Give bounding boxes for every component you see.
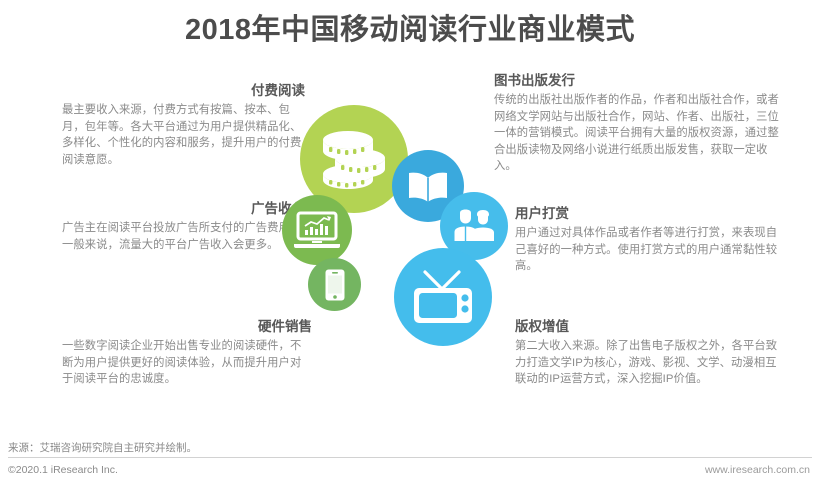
footer-copyright: ©2020.1 iResearch Inc. (8, 464, 118, 476)
block-paid-reading-body: 最主要收入来源，付费方式有按篇、按本、包月，包年等。各大平台通过为用户提供精品化… (62, 102, 305, 168)
page-title: 2018年中国移动阅读行业商业模式 (0, 10, 820, 50)
block-ad-revenue: 广告收入 广告主在阅读平台投放广告所支付的广告费用。一般来说，流量大的平台广告收… (62, 200, 305, 253)
block-user-tipping-heading: 用户打赏 (515, 205, 785, 223)
block-book-publishing: 图书出版发行 传统的出版社出版作者的作品，作者和出版社合作，或者网络文学网站与出… (494, 72, 779, 175)
block-copyright-value-body: 第二大收入来源。除了出售电子版权之外，各平台致力打造文学IP为核心，游戏、影视、… (515, 338, 783, 388)
block-copyright-value: 版权增值 第二大收入来源。除了出售电子版权之外，各平台致力打造文学IP为核心，游… (515, 318, 783, 388)
infographic-page: 2018年中国移动阅读行业商业模式 付费阅读 最主要收入来源，付费方式有按篇、按… (0, 0, 820, 486)
block-ad-revenue-heading: 广告收入 (62, 200, 305, 218)
block-paid-reading-heading: 付费阅读 (62, 82, 305, 100)
television-icon (394, 248, 492, 346)
smartphone-icon (308, 258, 361, 311)
icon-cluster (270, 100, 520, 352)
block-book-publishing-heading: 图书出版发行 (494, 72, 779, 90)
laptop-chart-icon (282, 195, 352, 265)
block-copyright-value-heading: 版权增值 (515, 318, 783, 336)
block-ad-revenue-body: 广告主在阅读平台投放广告所支付的广告费用。一般来说，流量大的平台广告收入会更多。 (62, 220, 305, 253)
block-user-tipping-body: 用户通过对具体作品或者作者等进行打赏，来表现自己喜好的一种方式。使用打赏方式的用… (515, 225, 785, 275)
footer-divider (8, 457, 812, 458)
block-paid-reading: 付费阅读 最主要收入来源，付费方式有按篇、按本、包月，包年等。各大平台通过为用户… (62, 82, 305, 168)
footer-url[interactable]: www.iresearch.com.cn (705, 464, 810, 476)
footer-source: 来源：艾瑞咨询研究院自主研究并绘制。 (8, 440, 197, 455)
block-user-tipping: 用户打赏 用户通过对具体作品或者作者等进行打赏，来表现自己喜好的一种方式。使用打… (515, 205, 785, 275)
block-book-publishing-body: 传统的出版社出版作者的作品，作者和出版社合作，或者网络文学网站与出版社合作，网站… (494, 92, 779, 175)
